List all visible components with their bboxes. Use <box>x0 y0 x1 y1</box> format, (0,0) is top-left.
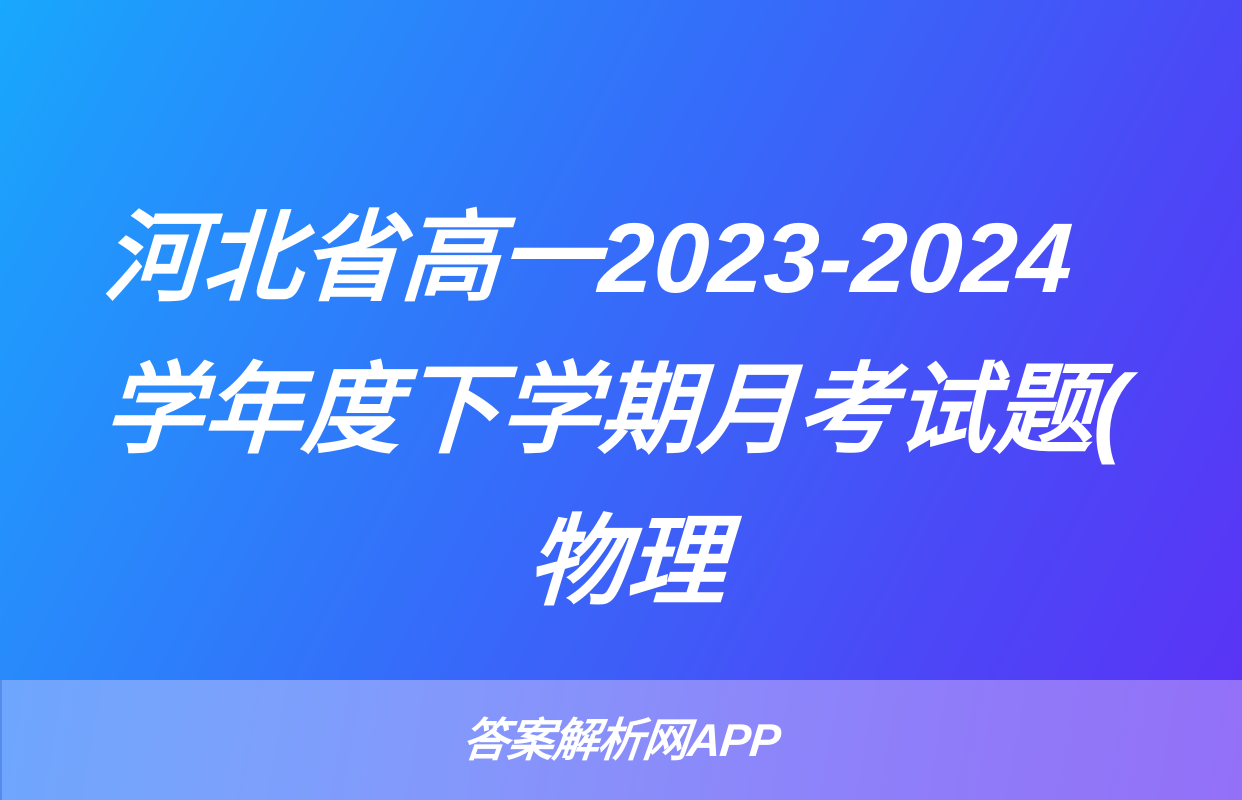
exam-title-block: 河北省高一2023-2024 学年度下学期月考试题( 物理 <box>104 182 1150 638</box>
exam-title-line-3: 物理 <box>100 486 1154 638</box>
hero-gradient-background: 河北省高一2023-2024 学年度下学期月考试题( 物理 <box>0 0 1242 680</box>
watermark-footer-band: 答案解析网APP <box>0 680 1242 800</box>
exam-title-card: 河北省高一2023-2024 学年度下学期月考试题( 物理 答案解析网APP <box>0 0 1242 800</box>
exam-title-line-1: 河北省高一2023-2024 <box>100 182 1154 334</box>
app-watermark-text: 答案解析网APP <box>460 717 781 763</box>
exam-title-line-2: 学年度下学期月考试题( <box>100 334 1154 486</box>
